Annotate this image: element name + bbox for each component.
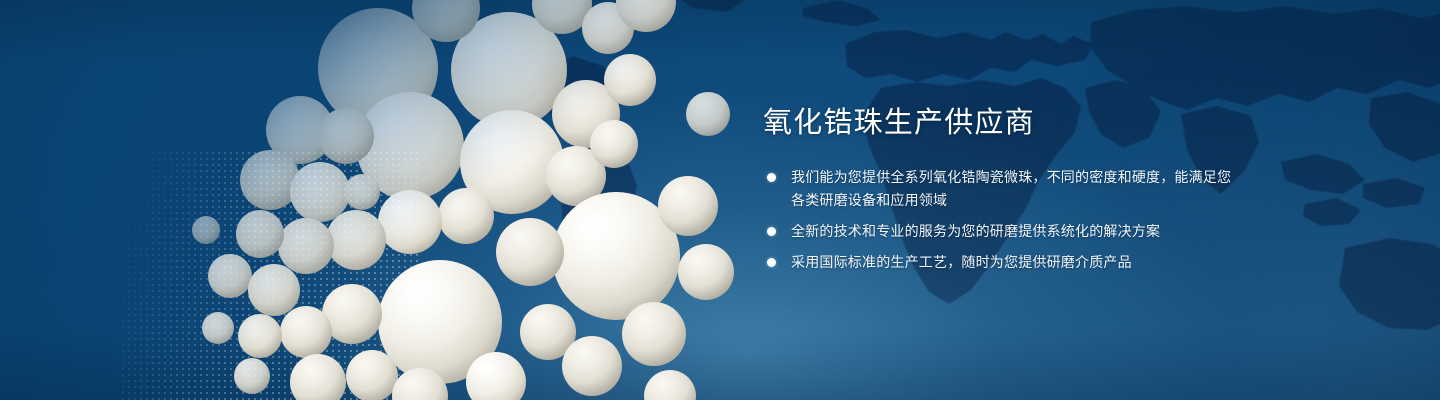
- feature-list: 我们能为您提供全系列氧化锆陶瓷微珠，不同的密度和硬度，能满足您各类研磨设备和应用…: [763, 166, 1233, 274]
- list-item: 我们能为您提供全系列氧化锆陶瓷微珠，不同的密度和硬度，能满足您各类研磨设备和应用…: [763, 166, 1233, 212]
- bullet-dot-icon: [767, 227, 776, 236]
- banner-copy-block: 氧化锆珠生产供应商 我们能为您提供全系列氧化锆陶瓷微珠，不同的密度和硬度，能满足…: [763, 106, 1233, 274]
- list-item-label: 我们能为您提供全系列氧化锆陶瓷微珠，不同的密度和硬度，能满足您各类研磨设备和应用…: [791, 169, 1231, 208]
- list-item: 全新的技术和专业的服务为您的研磨提供系统化的解决方案: [763, 220, 1233, 243]
- hero-banner: 氧化锆珠生产供应商 我们能为您提供全系列氧化锆陶瓷微珠，不同的密度和硬度，能满足…: [0, 0, 1440, 400]
- list-item: 采用国际标准的生产工艺，随时为您提供研磨介质产品: [763, 251, 1233, 274]
- list-item-label: 采用国际标准的生产工艺，随时为您提供研磨介质产品: [791, 254, 1132, 270]
- bullet-dot-icon: [767, 173, 776, 182]
- list-item-label: 全新的技术和专业的服务为您的研磨提供系统化的解决方案: [791, 223, 1160, 239]
- bullet-dot-icon: [767, 258, 776, 267]
- page-title: 氧化锆珠生产供应商: [763, 106, 1233, 140]
